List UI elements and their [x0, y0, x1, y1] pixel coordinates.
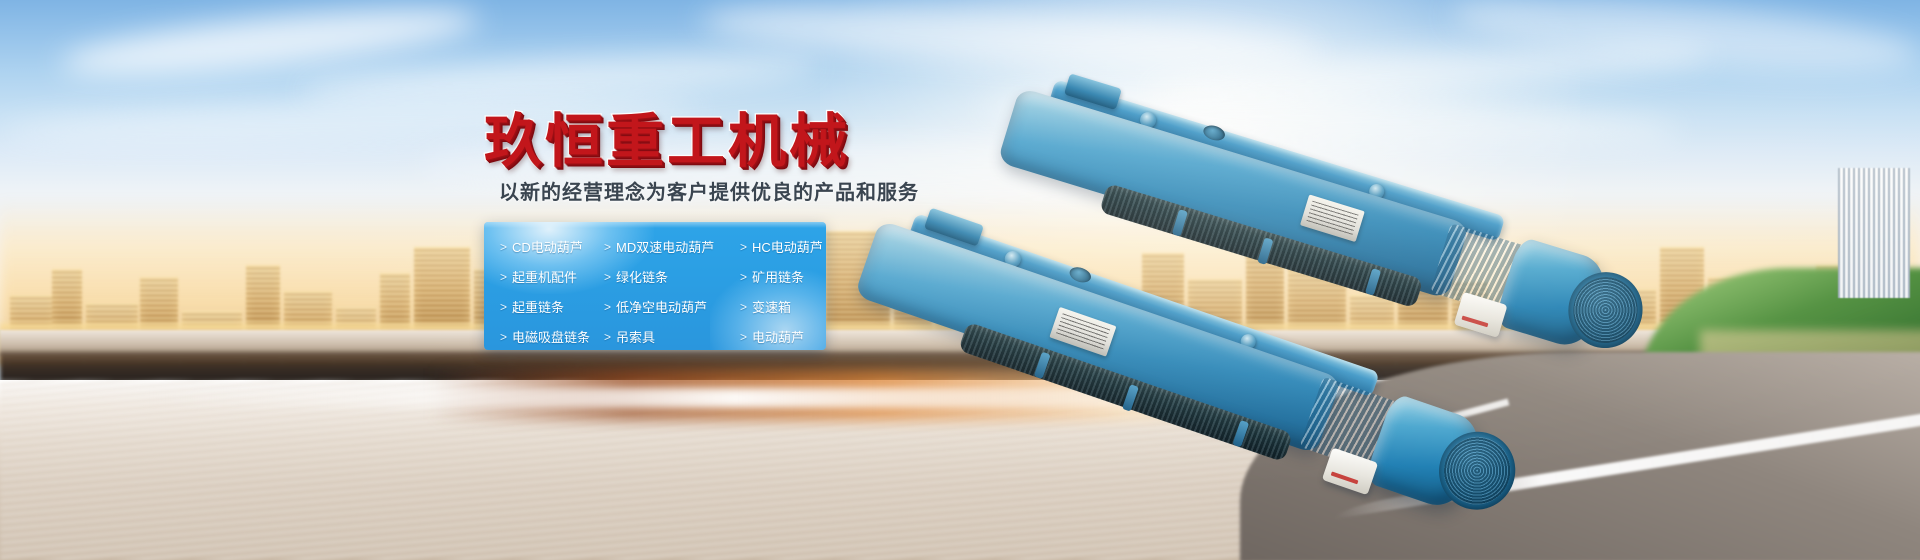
product-link[interactable]: >电动葫芦	[740, 322, 826, 350]
company-title: 玖恒重工机械	[484, 112, 850, 170]
chevron-right-icon: >	[500, 241, 507, 253]
product-link[interactable]: >CD电动葫芦	[500, 232, 604, 262]
product-link-label: 低净空电动葫芦	[616, 301, 707, 314]
product-link-label: MD双速电动葫芦	[616, 241, 714, 254]
product-links-grid: >CD电动葫芦>MD双速电动葫芦>HC电动葫芦>起重机配件>绿化链条>矿用链条>…	[484, 222, 826, 350]
product-link[interactable]: >起重链条	[500, 292, 604, 322]
chevron-right-icon: >	[500, 331, 507, 343]
product-link[interactable]: >矿用链条	[740, 262, 826, 292]
product-link[interactable]: >起重机配件	[500, 262, 604, 292]
product-link[interactable]: >电磁吸盘链条	[500, 322, 604, 350]
chevron-right-icon: >	[604, 271, 611, 283]
product-list-panel: >CD电动葫芦>MD双速电动葫芦>HC电动葫芦>起重机配件>绿化链条>矿用链条>…	[484, 222, 826, 350]
product-link[interactable]: >吊索具	[604, 322, 740, 350]
promo-banner: 玖恒重工机械 以新的经营理念为客户提供优良的产品和服务 >CD电动葫芦>MD双速…	[0, 0, 1920, 560]
product-link[interactable]: >低净空电动葫芦	[604, 292, 740, 322]
chevron-right-icon: >	[740, 331, 747, 343]
chevron-right-icon: >	[740, 301, 747, 313]
product-link-label: 起重机配件	[512, 271, 577, 284]
chevron-right-icon: >	[604, 301, 611, 313]
product-link-label: 吊索具	[616, 331, 655, 344]
product-link-label: 电磁吸盘链条	[512, 331, 590, 344]
chevron-right-icon: >	[604, 331, 611, 343]
product-link[interactable]: >绿化链条	[604, 262, 740, 292]
product-link-label: 绿化链条	[616, 271, 668, 284]
product-link-label: HC电动葫芦	[752, 241, 823, 254]
product-link-label: 变速箱	[752, 301, 791, 314]
chevron-right-icon: >	[500, 271, 507, 283]
chevron-right-icon: >	[604, 241, 611, 253]
product-link[interactable]: >变速箱	[740, 292, 826, 322]
chevron-right-icon: >	[500, 301, 507, 313]
product-link[interactable]: >HC电动葫芦	[740, 232, 826, 262]
product-link[interactable]: >MD双速电动葫芦	[604, 232, 740, 262]
product-link-label: 起重链条	[512, 301, 564, 314]
product-link-label: 矿用链条	[752, 271, 804, 284]
skyscraper	[1838, 168, 1910, 298]
product-link-label: 电动葫芦	[752, 331, 804, 344]
company-slogan: 以新的经营理念为客户提供优良的产品和服务	[499, 183, 919, 203]
chevron-right-icon: >	[740, 241, 747, 253]
chevron-right-icon: >	[740, 271, 747, 283]
product-link-label: CD电动葫芦	[512, 241, 583, 254]
